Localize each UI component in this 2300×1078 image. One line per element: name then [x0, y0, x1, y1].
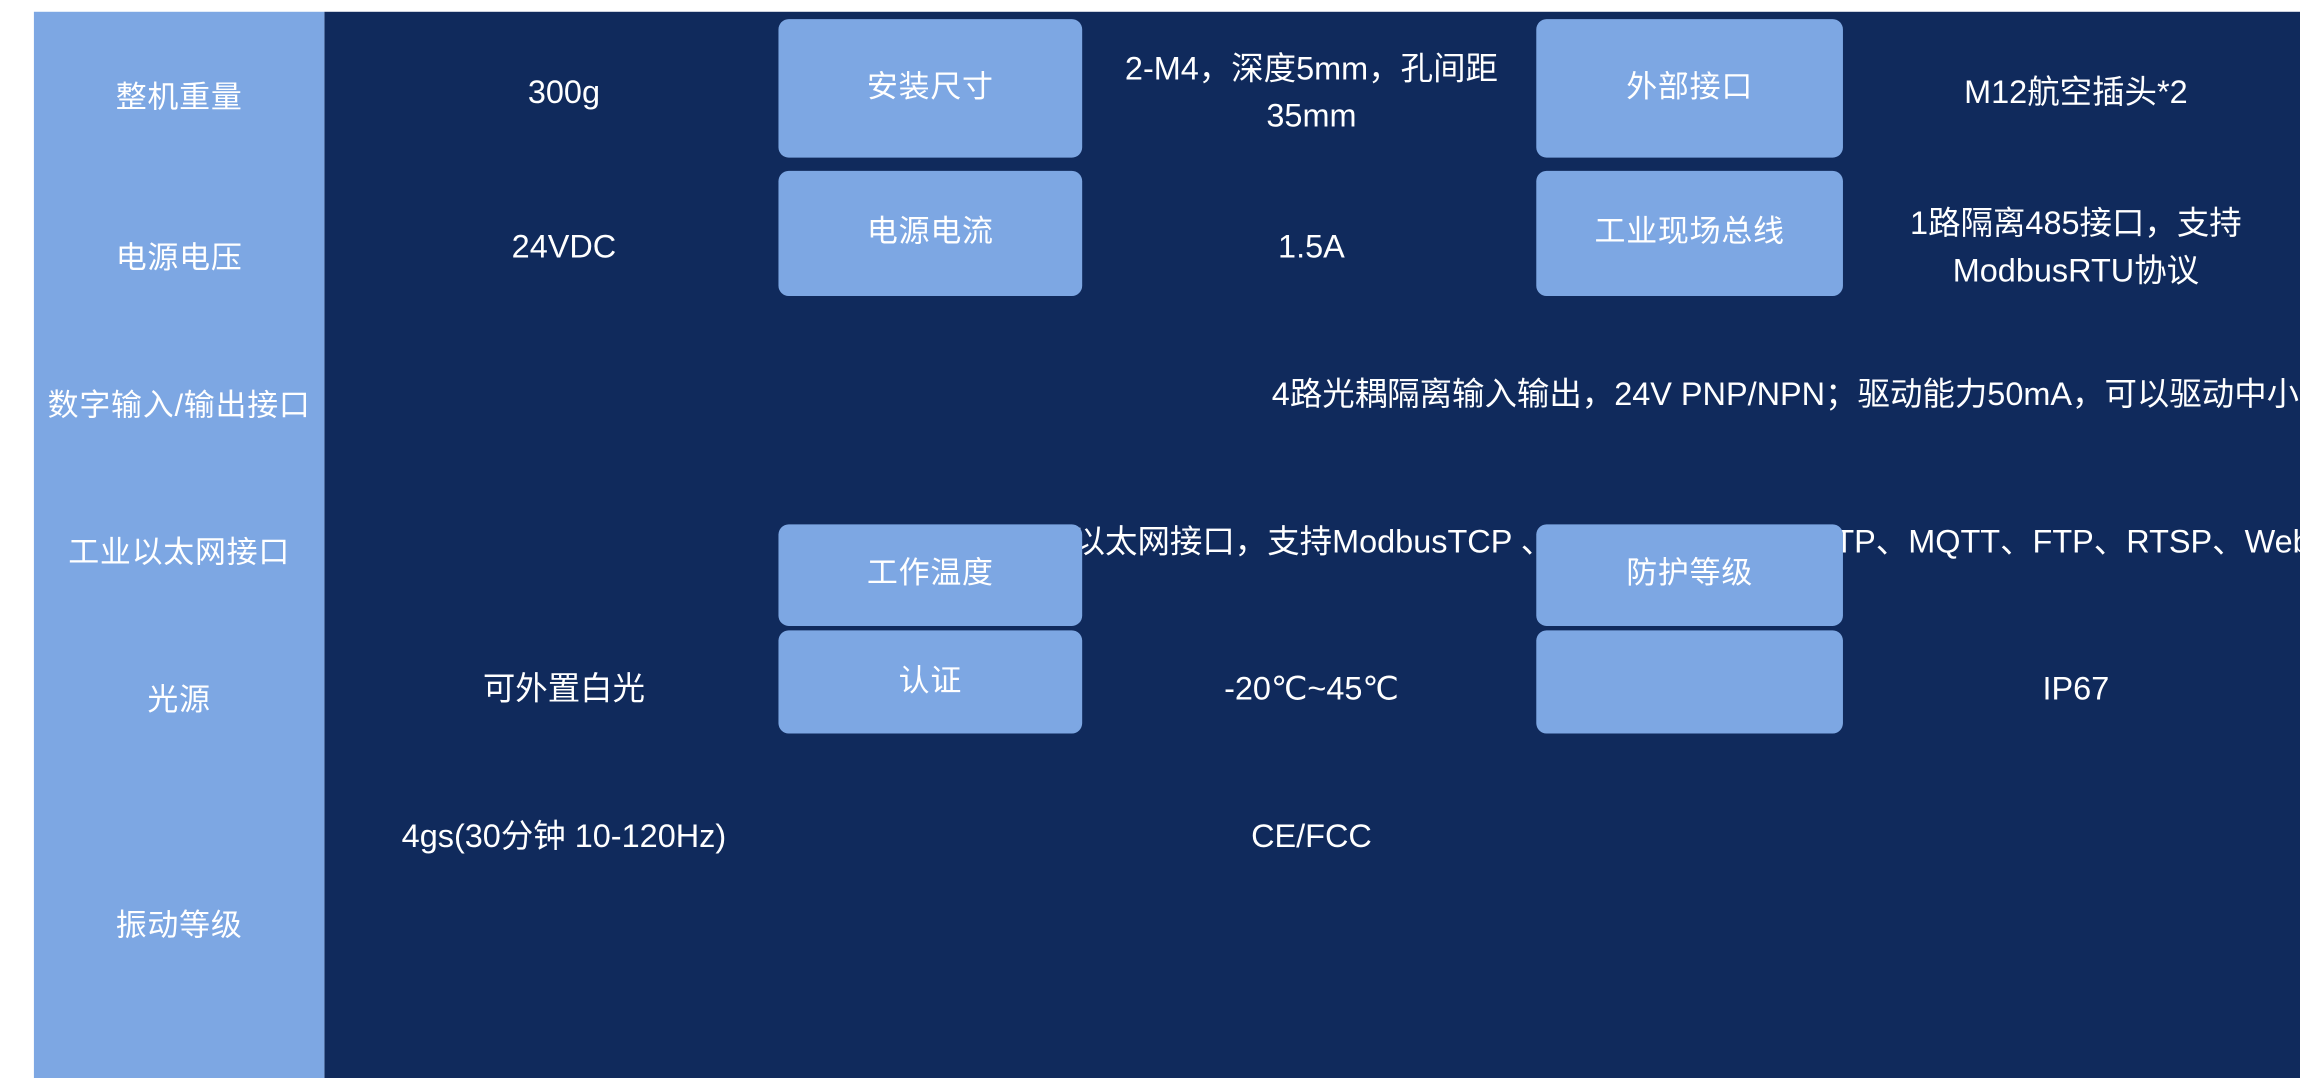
cell-certification-value: CE/FCC [1094, 763, 1529, 910]
cell-weight-value: 300g [354, 12, 774, 174]
row-label-weight: 整机重量 [34, 12, 324, 186]
label-column: 整机重量 电源电压 数字输入/输出接口 工业以太网接口 光源 振动等级 [34, 12, 324, 1078]
key-card-supply-current: 电源电流 [778, 171, 1082, 296]
cell-supply-current-value: 1.5A [1094, 174, 1529, 321]
key-card-empty [1536, 630, 1843, 733]
row-label-vibration-level: 振动等级 [34, 775, 324, 1078]
cell-light-source-value: 可外置白光 [354, 616, 774, 763]
cell-operating-temperature-value: -20℃~45℃ [1094, 616, 1529, 763]
key-card-operating-temperature: 工作温度 [778, 524, 1082, 626]
row-label-digital-io: 数字输入/输出接口 [34, 333, 324, 480]
cell-industrial-fieldbus-value: 1路隔离485接口，支持ModbusRTU协议 [1855, 174, 2297, 321]
cell-empty-value [1855, 763, 2297, 910]
key-card-external-interface: 外部接口 [1536, 19, 1843, 157]
cell-vibration-level-value: 4gs(30分钟 10-120Hz) [354, 763, 774, 910]
cell-industrial-ethernet-value: 1路千兆以太网接口，支持ModbusTCP 、TCP/IP、UDP、HTTP、M… [354, 468, 2300, 615]
key-card-industrial-fieldbus: 工业现场总线 [1536, 171, 1843, 296]
row-label-light-source: 光源 [34, 627, 324, 774]
cell-digital-io-value: 4路光耦隔离输入输出，24V PNP/NPN；驱动能力50mA，可以驱动中小型继… [354, 321, 2300, 468]
key-card-mounting-size: 安装尺寸 [778, 19, 1082, 157]
cell-external-interface-value: M12航空插头*2 [1855, 12, 2297, 174]
row-label-supply-voltage: 电源电压 [34, 186, 324, 333]
cell-supply-voltage-value: 24VDC [354, 174, 774, 321]
cell-protection-rating-value: IP67 [1855, 616, 2297, 763]
key-card-certification: 认证 [778, 630, 1082, 733]
row-label-industrial-ethernet: 工业以太网接口 [34, 480, 324, 627]
spec-table: 整机重量 电源电压 数字输入/输出接口 工业以太网接口 光源 振动等级 300g… [0, 0, 2300, 732]
cell-mounting-size-value: 2-M4，深度5mm，孔间距35mm [1094, 12, 1529, 174]
key-card-protection-rating: 防护等级 [1536, 524, 1843, 626]
